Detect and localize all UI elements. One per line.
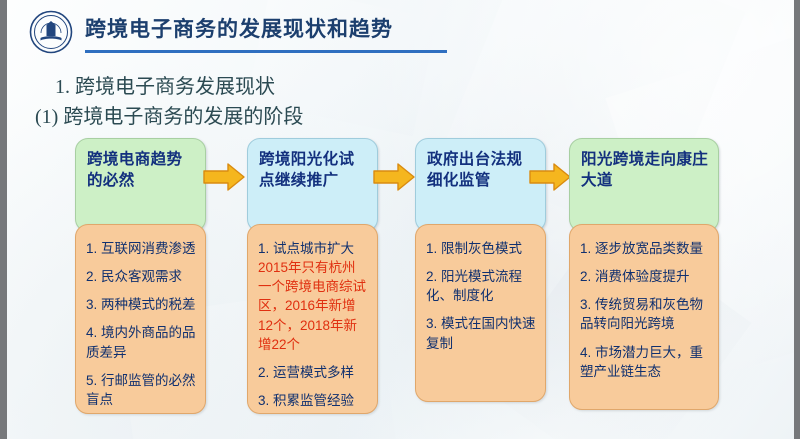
list-item: 1. 限制灰色模式: [426, 239, 537, 258]
flow-stage-4: 阳光跨境走向康庄大道 1. 逐步放宽品类数量 2. 消费体验度提升 3. 传统贸…: [569, 138, 719, 410]
stage-header-4: 阳光跨境走向康庄大道: [569, 138, 719, 232]
list-item: 4. 市场潜力巨大，重塑产业链生态: [580, 343, 710, 381]
list-item: 1. 互联网消费渗透: [86, 239, 197, 258]
page-title: 跨境电子商务的发展现状和趋势: [85, 13, 393, 43]
list-item: 3. 两种模式的税差: [86, 295, 197, 314]
list-item: 2. 民众客观需求: [86, 267, 197, 286]
section-heading-1: 1. 跨境电子商务发展现状: [55, 70, 275, 99]
list-item: 3. 传统贸易和灰色物品转向阳光跨境: [580, 295, 710, 333]
stage-body-4: 1. 逐步放宽品类数量 2. 消费体验度提升 3. 传统贸易和灰色物品转向阳光跨…: [569, 224, 719, 410]
list-item: 3. 积累监管经验: [258, 391, 369, 410]
flow-stage-2: 跨境阳光化试点继续推广 1. 试点城市扩大 2015年只有杭州一个跨境电商综试区…: [247, 138, 378, 414]
section-heading-2: (1) 跨境电子商务的发展的阶段: [35, 100, 303, 129]
list-item: 1. 逐步放宽品类数量: [580, 239, 710, 258]
title-underline: [85, 50, 447, 53]
list-item-highlight: 2015年只有杭州一个跨境电商综试区，2016年新增12个，2018年新增22个: [258, 258, 369, 354]
list-item: 2. 运营模式多样: [258, 363, 369, 382]
list-item: 4. 境内外商品的品质差异: [86, 323, 197, 361]
stage-body-2: 1. 试点城市扩大 2015年只有杭州一个跨境电商综试区，2016年新增12个，…: [247, 224, 378, 414]
stage-body-3: 1. 限制灰色模式 2. 阳光模式流程化、制度化 3. 模式在国内快速复制: [415, 224, 546, 402]
list-item-label: 1. 试点城市扩大: [258, 241, 354, 256]
stage-header-3: 政府出台法规细化监管: [415, 138, 546, 232]
slide-canvas: 跨境电子商务的发展现状和趋势 1. 跨境电子商务发展现状 (1) 跨境电子商务的…: [0, 0, 800, 439]
stage-header-2: 跨境阳光化试点继续推广: [247, 138, 378, 232]
flow-stage-3: 政府出台法规细化监管 1. 限制灰色模式 2. 阳光模式流程化、制度化 3. 模…: [415, 138, 546, 402]
right-arrow-icon: [373, 162, 415, 192]
slide-title-bar: 跨境电子商务的发展现状和趋势: [7, 0, 794, 62]
stage-header-1: 跨境电商趋势的必然: [75, 138, 206, 232]
list-item: 2. 消费体验度提升: [580, 267, 710, 286]
university-crest-icon: [29, 10, 73, 54]
list-item: 1. 试点城市扩大 2015年只有杭州一个跨境电商综试区，2016年新增12个，…: [258, 239, 369, 354]
right-arrow-icon: [203, 162, 245, 192]
list-item: 3. 模式在国内快速复制: [426, 314, 537, 352]
right-arrow-icon: [529, 162, 571, 192]
list-item: 5. 行邮监管的必然盲点: [86, 371, 197, 409]
flow-stage-1: 跨境电商趋势的必然 1. 互联网消费渗透 2. 民众客观需求 3. 两种模式的税…: [75, 138, 206, 414]
list-item: 2. 阳光模式流程化、制度化: [426, 267, 537, 305]
stage-body-1: 1. 互联网消费渗透 2. 民众客观需求 3. 两种模式的税差 4. 境内外商品…: [75, 224, 206, 414]
